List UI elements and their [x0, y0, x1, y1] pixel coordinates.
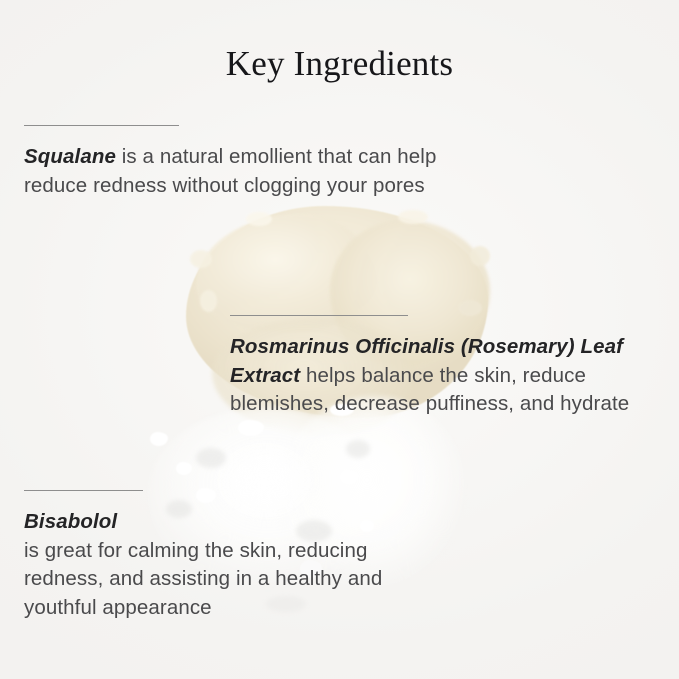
page-title: Key Ingredients — [0, 46, 679, 81]
ingredient-text: Rosmarinus Officinalis (Rosemary) Leaf E… — [230, 333, 662, 419]
ingredient-block-squalane: Squalane is a natural emollient that can… — [24, 143, 444, 200]
ingredient-name-bisabolol: Bisabolol — [24, 508, 444, 537]
infographic-content: Key Ingredients Squalane is a natural em… — [0, 0, 679, 679]
ingredient-block-rosemary: Rosmarinus Officinalis (Rosemary) Leaf E… — [230, 333, 662, 419]
ingredient-description-bisabolol: is great for calming the skin, reducing … — [24, 537, 444, 623]
divider-rule-ingredient-2 — [230, 315, 408, 316]
ingredient-text: Squalane is a natural emollient that can… — [24, 143, 444, 200]
ingredient-block-bisabolol: Bisabolol is great for calming the skin,… — [24, 508, 444, 622]
ingredient-name-squalane: Squalane — [24, 145, 116, 168]
divider-rule-ingredient-3 — [24, 490, 143, 491]
key-ingredients-infographic: Key Ingredients Squalane is a natural em… — [0, 0, 679, 679]
divider-rule-ingredient-1 — [24, 125, 179, 126]
